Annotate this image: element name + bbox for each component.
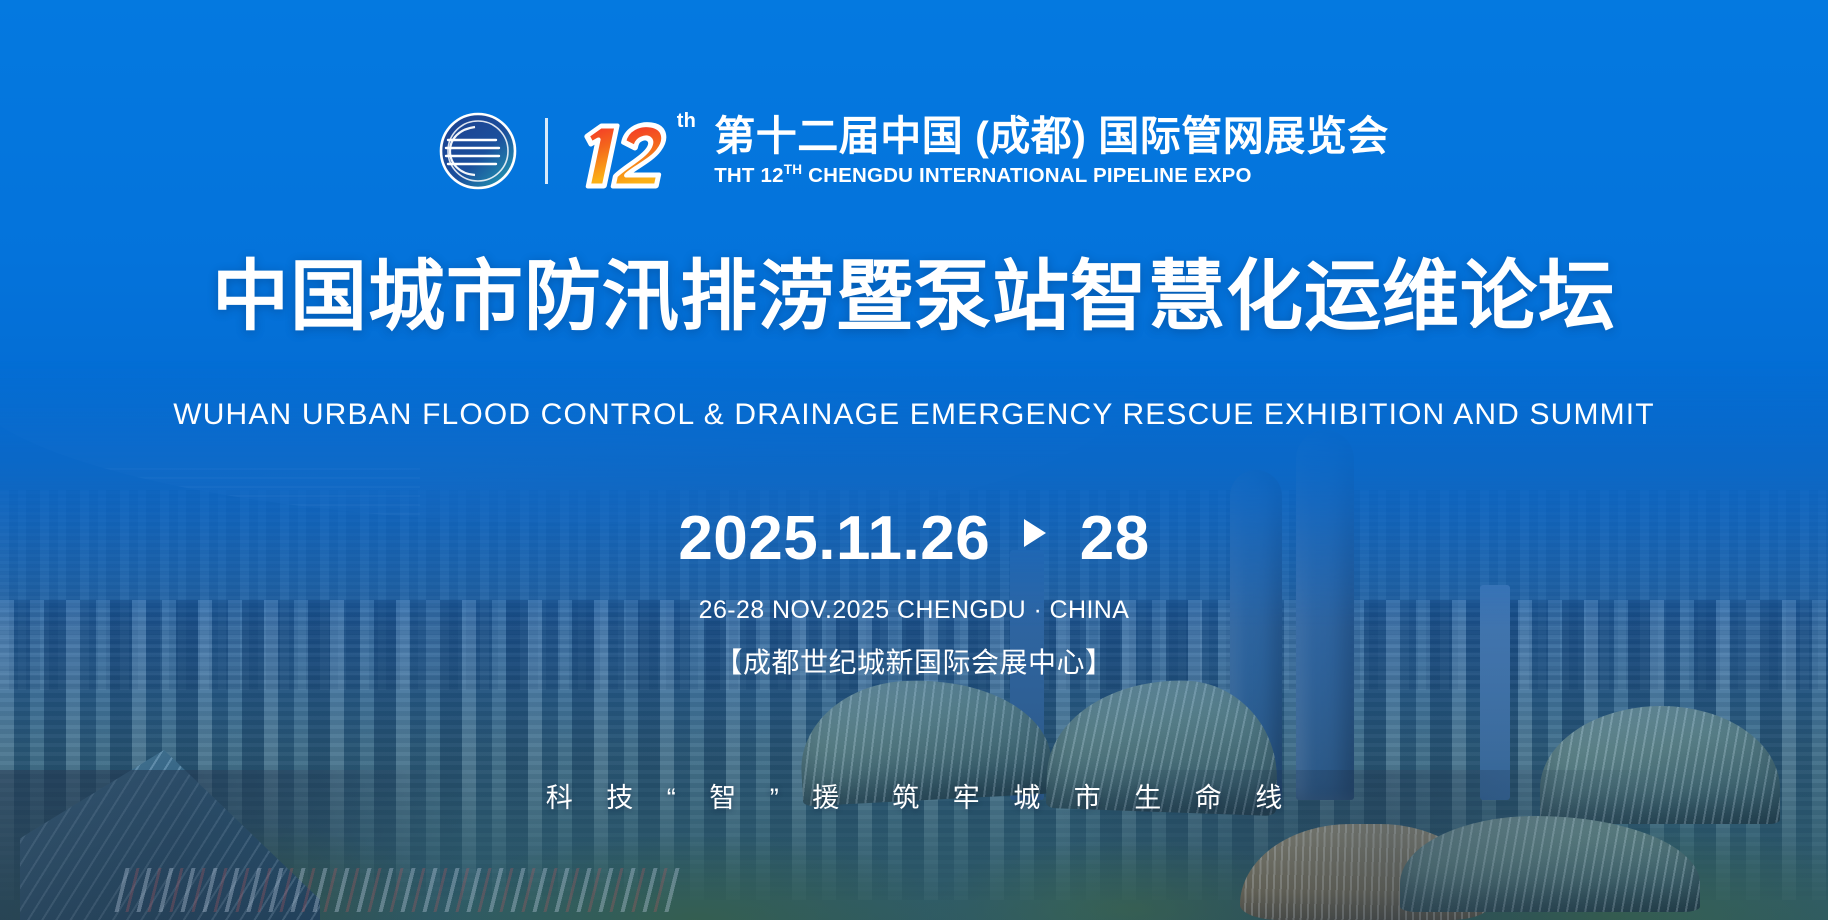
pipeline-circle-emblem-icon xyxy=(439,112,517,190)
edition-ordinal-label: th xyxy=(677,110,696,133)
tagline-spacer xyxy=(852,783,892,813)
event-date-en: 26-28 NOV.2025 CHENGDU · CHINA xyxy=(0,596,1828,625)
edition-number-badge: th xyxy=(574,108,698,194)
expo-header-lockup: th 第十二届中国 (成都) 国际管网展览会 THT 12TH CHENGDU … xyxy=(0,108,1828,194)
chengdu-cityscape-background xyxy=(0,360,1828,920)
event-venue-cn: 【成都世纪城新国际会展中心】 xyxy=(0,641,1828,681)
expo-title-en-suffix: CHENGDU INTERNATIONAL PIPELINE EXPO xyxy=(802,164,1252,187)
play-triangle-icon xyxy=(1024,519,1046,547)
expo-title-en-ordinal: TH xyxy=(784,162,802,177)
event-tagline: 科 技 “ 智 ” 援筑 牢 城 市 生 命 线 xyxy=(0,776,1828,815)
vertical-divider-icon xyxy=(545,118,548,184)
forum-title-cn: 中国城市防汛排涝暨泵站智慧化运维论坛 xyxy=(0,258,1828,337)
blue-color-overlay xyxy=(0,360,1828,920)
event-date-end: 28 xyxy=(1080,504,1150,573)
tagline-part-1: 科 技 “ 智 ” 援 xyxy=(546,783,853,813)
expo-title-en: THT 12TH CHENGDU INTERNATIONAL PIPELINE … xyxy=(714,162,1389,188)
expo-title-group: 第十二届中国 (成都) 国际管网展览会 THT 12TH CHENGDU INT… xyxy=(714,114,1389,188)
expo-title-cn: 第十二届中国 (成都) 国际管网展览会 xyxy=(714,114,1389,158)
event-date-start: 2025.11.26 xyxy=(678,504,990,573)
expo-title-en-prefix: THT 12 xyxy=(714,164,784,187)
event-date-line: 2025.11.26 28 xyxy=(0,508,1828,570)
forum-title-en: WUHAN URBAN FLOOD CONTROL & DRAINAGE EME… xyxy=(0,398,1828,432)
expo-banner-poster: th 第十二届中国 (成都) 国际管网展览会 THT 12TH CHENGDU … xyxy=(0,0,1828,920)
tagline-part-2: 筑 牢 城 市 生 命 线 xyxy=(892,783,1295,813)
